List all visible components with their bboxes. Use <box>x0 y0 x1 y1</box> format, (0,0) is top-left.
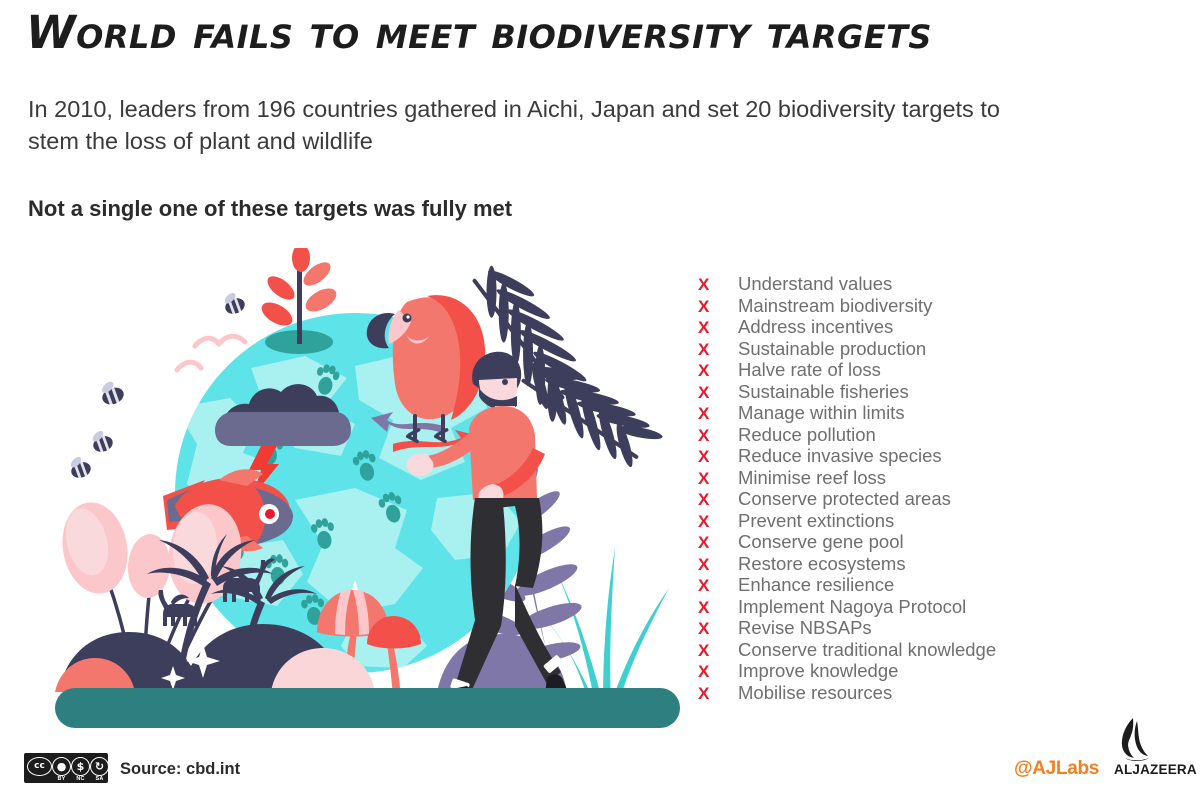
cross-icon: X <box>698 683 738 705</box>
cross-icon: X <box>698 403 738 425</box>
kicker-text: Not a single one of these targets was fu… <box>28 196 1028 222</box>
target-label: Improve knowledge <box>738 660 898 682</box>
target-label: Mobilise resources <box>738 682 892 704</box>
cc-nc-icon: $ NC <box>71 753 90 783</box>
target-row: XRevise NBSAPs <box>698 617 1168 639</box>
sapling-icon <box>258 248 340 354</box>
target-row: XEnhance resilience <box>698 574 1168 596</box>
cross-icon: X <box>698 296 738 318</box>
target-label: Reduce pollution <box>738 424 876 446</box>
cc-sa-icon: ↻ SA <box>90 753 109 783</box>
cc-icon: cc <box>27 753 52 783</box>
target-row: XReduce pollution <box>698 424 1168 446</box>
cross-icon: X <box>698 640 738 662</box>
target-label: Understand values <box>738 273 892 295</box>
cc-sa-circle: ↻ <box>90 757 109 776</box>
cc-nc-circle: $ <box>71 757 90 776</box>
target-row: XUnderstand values <box>698 273 1168 295</box>
target-row: XConserve gene pool <box>698 531 1168 553</box>
cross-icon: X <box>698 446 738 468</box>
aljazeera-logo-icon <box>1107 718 1159 762</box>
cross-icon: X <box>698 339 738 361</box>
aljazeera-wordmark: ALJAZEERA <box>1114 762 1197 777</box>
cross-icon: X <box>698 425 738 447</box>
aichi-targets-list: XUnderstand valuesXMainstream biodiversi… <box>698 273 1168 703</box>
cc-nc-label: NC <box>71 776 90 782</box>
target-label: Enhance resilience <box>738 574 894 596</box>
target-label: Minimise reef loss <box>738 467 886 489</box>
target-label: Sustainable production <box>738 338 926 360</box>
target-label: Address incentives <box>738 316 893 338</box>
creative-commons-badge: cc ● BY $ NC ↻ SA <box>24 753 108 783</box>
cross-icon: X <box>698 532 738 554</box>
cross-icon: X <box>698 382 738 404</box>
target-label: Implement Nagoya Protocol <box>738 596 966 618</box>
target-row: XHalve rate of loss <box>698 359 1168 381</box>
target-label: Conserve gene pool <box>738 531 904 553</box>
target-row: XImplement Nagoya Protocol <box>698 596 1168 618</box>
target-label: Conserve protected areas <box>738 488 951 510</box>
cross-icon: X <box>698 661 738 683</box>
target-row: XSustainable production <box>698 338 1168 360</box>
target-row: XMinimise reef loss <box>698 467 1168 489</box>
target-label: Revise NBSAPs <box>738 617 872 639</box>
target-row: XPrevent extinctions <box>698 510 1168 532</box>
target-label: Manage within limits <box>738 402 905 424</box>
target-row: XSustainable fisheries <box>698 381 1168 403</box>
cross-icon: X <box>698 554 738 576</box>
target-label: Reduce invasive species <box>738 445 942 467</box>
target-row: XReduce invasive species <box>698 445 1168 467</box>
cross-icon: X <box>698 597 738 619</box>
target-row: XAddress incentives <box>698 316 1168 338</box>
cc-logo-circle: cc <box>27 757 52 776</box>
cross-icon: X <box>698 618 738 640</box>
cross-icon: X <box>698 489 738 511</box>
cross-icon: X <box>698 317 738 339</box>
cross-icon: X <box>698 511 738 533</box>
cc-by-label: BY <box>52 776 71 782</box>
target-row: XImprove knowledge <box>698 660 1168 682</box>
cross-icon: X <box>698 575 738 597</box>
cross-icon: X <box>698 274 738 296</box>
target-row: XMobilise resources <box>698 682 1168 704</box>
ground-bar <box>55 688 680 728</box>
standfirst-text: In 2010, leaders from 196 countries gath… <box>28 94 1028 158</box>
page-title: World fails to meet biodiversity targets <box>26 8 1126 58</box>
cc-by-icon: ● BY <box>52 753 71 783</box>
target-row: XManage within limits <box>698 402 1168 424</box>
source-attribution: Source: cbd.int <box>120 760 240 779</box>
cross-icon: X <box>698 360 738 382</box>
target-row: XRestore ecosystems <box>698 553 1168 575</box>
target-row: XConserve protected areas <box>698 488 1168 510</box>
target-label: Prevent extinctions <box>738 510 894 532</box>
target-row: XMainstream biodiversity <box>698 295 1168 317</box>
target-label: Mainstream biodiversity <box>738 295 932 317</box>
target-label: Sustainable fisheries <box>738 381 909 403</box>
target-label: Conserve traditional knowledge <box>738 639 996 661</box>
biodiversity-illustration <box>55 248 685 730</box>
cross-icon: X <box>698 468 738 490</box>
target-label: Restore ecosystems <box>738 553 906 575</box>
cc-sa-label: SA <box>90 776 109 782</box>
target-label: Halve rate of loss <box>738 359 881 381</box>
ajlabs-handle: @AJLabs <box>1014 758 1099 780</box>
cc-by-circle: ● <box>52 757 71 776</box>
target-row: XConserve traditional knowledge <box>698 639 1168 661</box>
